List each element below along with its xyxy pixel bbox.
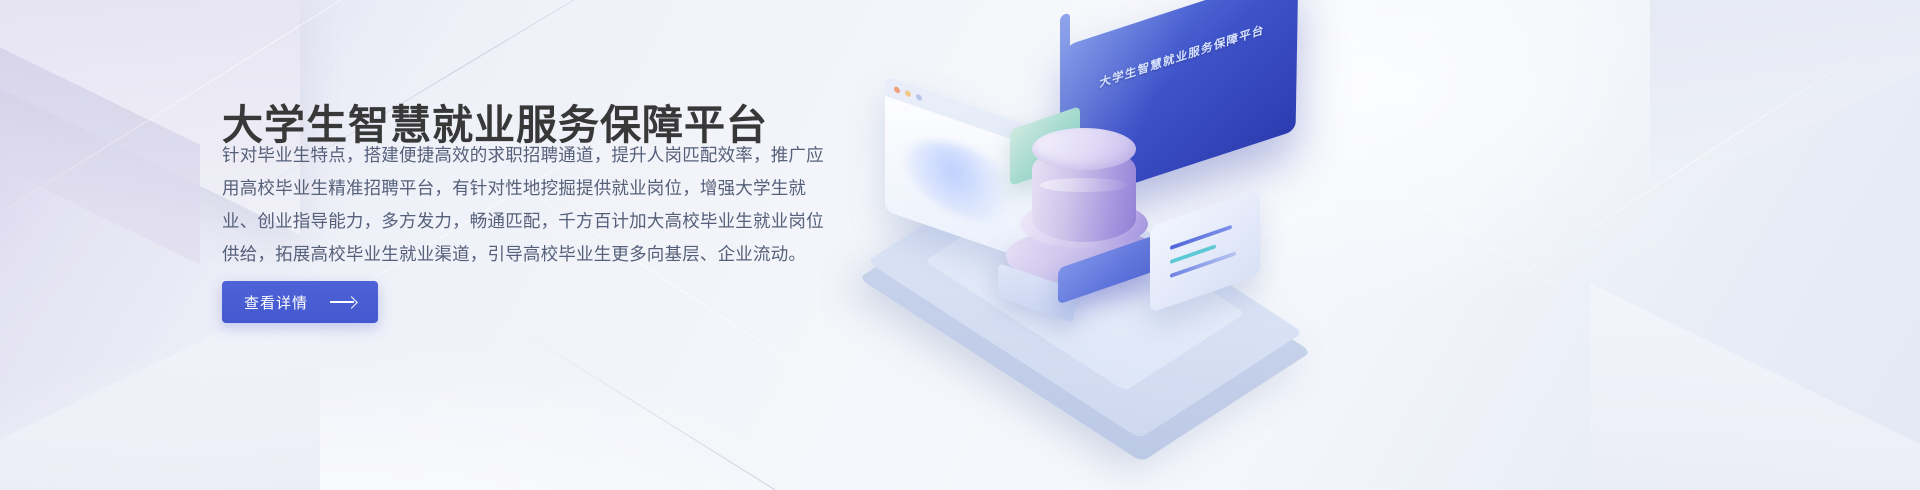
bubble-line [1170, 225, 1232, 250]
arrow-right-icon [330, 297, 356, 307]
hero-banner: 大学生智慧就业服务保障平台 针对毕业生特点，搭建便捷高效的求职招聘通道，提升人岗… [0, 0, 1920, 490]
cylinder-top [1032, 128, 1136, 170]
hero-content: 大学生智慧就业服务保障平台 针对毕业生特点，搭建便捷高效的求职招聘通道，提升人岗… [222, 0, 882, 490]
hero-description: 针对毕业生特点，搭建便捷高效的求职招聘通道，提升人岗匹配效率，推广应 用高校毕业… [222, 139, 847, 271]
description-line-4: 供给，拓展高校毕业生就业渠道，引导高校毕业生更多向基层、企业流动。 [222, 238, 847, 271]
window-glow [905, 127, 1025, 238]
cylinder-highlight [1040, 178, 1128, 192]
view-details-label: 查看详情 [244, 292, 308, 313]
description-line-1: 针对毕业生特点，搭建便捷高效的求职招聘通道，提升人岗匹配效率，推广应 [222, 139, 847, 172]
decor-slab-bottom-right [1590, 283, 1920, 490]
view-details-button[interactable]: 查看详情 [222, 281, 378, 323]
description-line-2: 用高校毕业生精准招聘平台，有针对性地挖掘提供就业岗位，增强大学生就 [222, 172, 847, 205]
hero-illustration: 大学生智慧就业服务保障平台 [880, 0, 1400, 490]
description-line-3: 业、创业指导能力，多方发力，畅通匹配，千方百计加大高校毕业生就业岗位 [222, 205, 847, 238]
